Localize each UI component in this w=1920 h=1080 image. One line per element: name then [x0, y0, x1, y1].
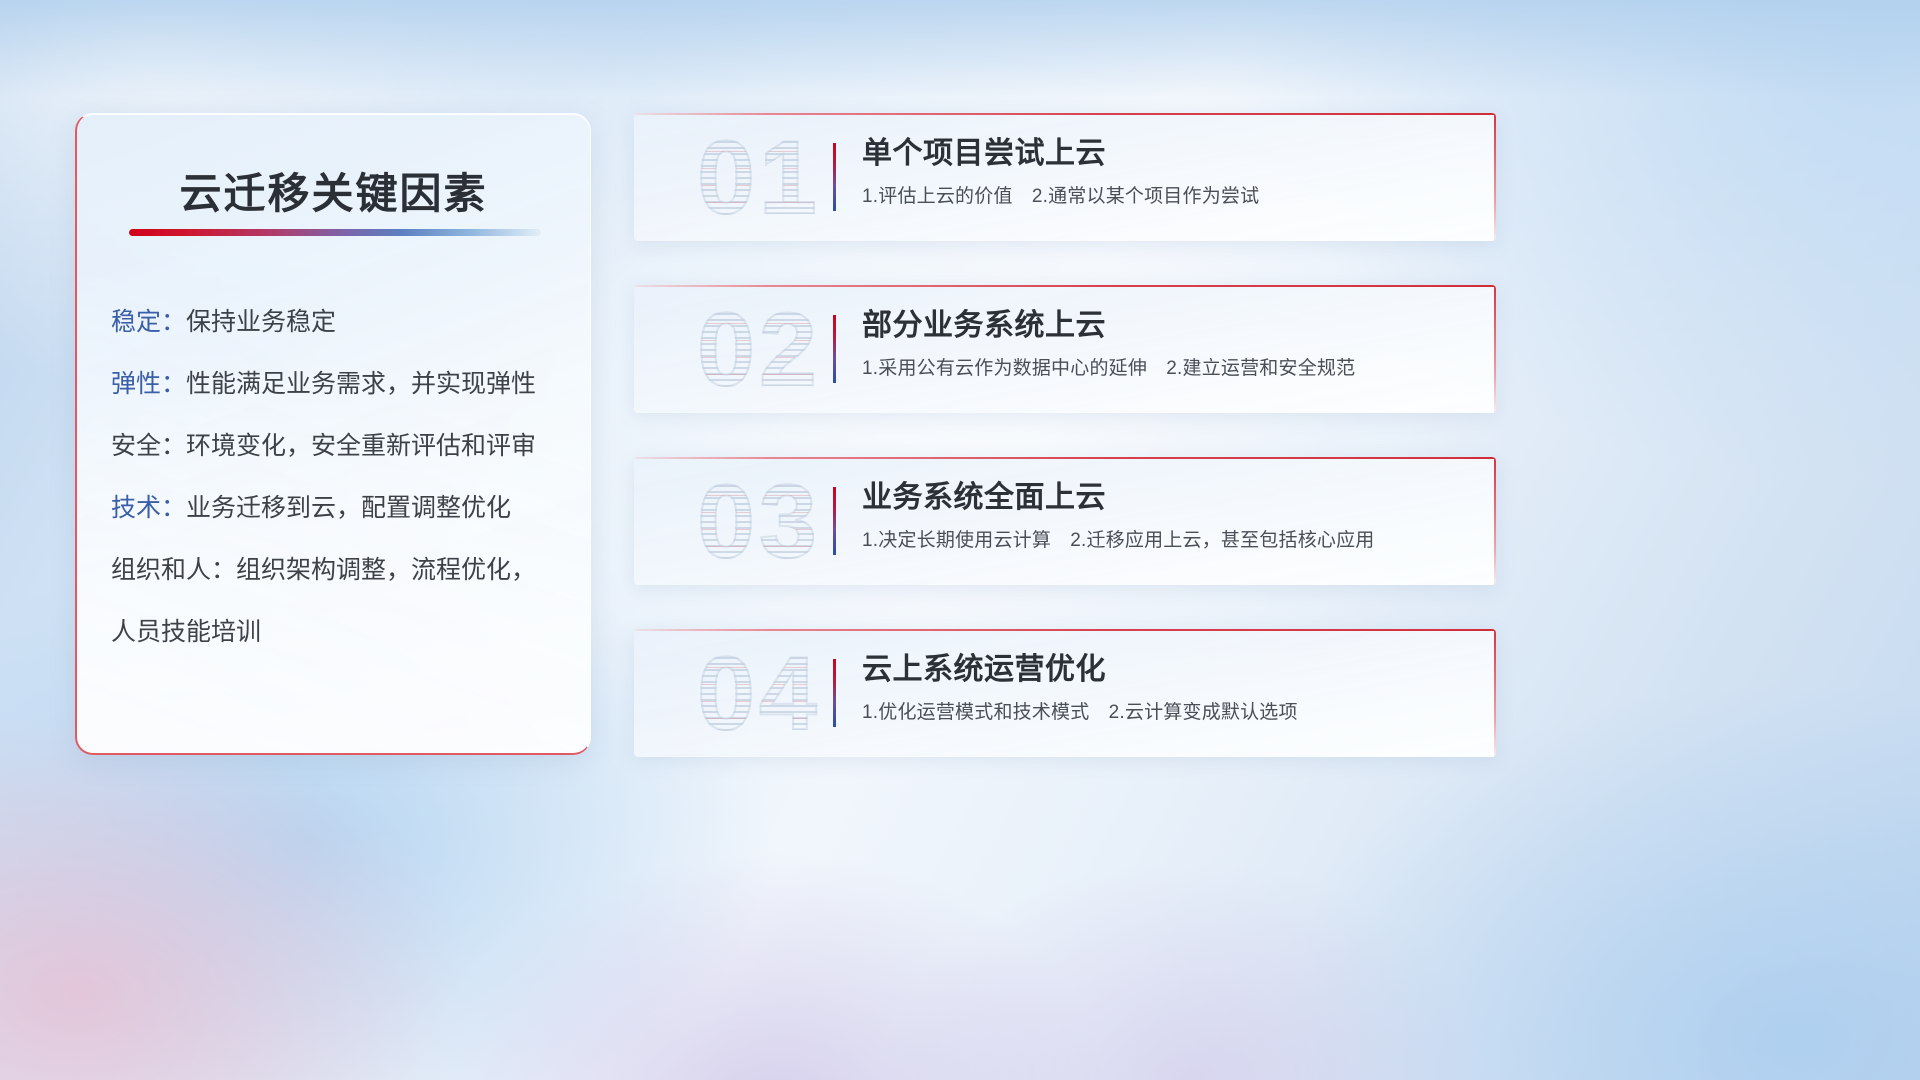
- slide-stage: 云迁移关键因素 稳定：保持业务稳定 弹性：性能满足业务需求，并实现弹性 安全：环…: [0, 0, 1920, 1080]
- card-top-accent-border: [634, 629, 1496, 631]
- stage-number: 04: [656, 633, 862, 755]
- list-item: 安全：环境变化，安全重新评估和评审: [111, 434, 566, 496]
- factor-label: 组织和人：: [111, 556, 236, 584]
- card-right-accent-border: [1494, 285, 1496, 413]
- stages-list: 01 01 单个项目尝试上云 1.评估上云的价值 2.通常以某个项目作为尝试 0…: [634, 113, 1496, 801]
- card-right-accent-border: [1494, 113, 1496, 241]
- list-item: 组织和人：组织架构调整，流程优化，: [111, 558, 566, 620]
- stage-card-01[interactable]: 01 01 单个项目尝试上云 1.评估上云的价值 2.通常以某个项目作为尝试: [634, 113, 1496, 241]
- factor-label: 弹性：: [111, 370, 186, 398]
- factor-text: 组织架构调整，流程优化，: [236, 556, 536, 584]
- stage-title: 业务系统全面上云: [862, 479, 1472, 517]
- factor-text: 保持业务稳定: [186, 308, 336, 336]
- key-factors-panel: 云迁移关键因素 稳定：保持业务稳定 弹性：性能满足业务需求，并实现弹性 安全：环…: [75, 113, 591, 755]
- card-right-accent-border: [1494, 629, 1496, 757]
- card-top-accent-border: [634, 113, 1496, 115]
- list-item: 弹性：性能满足业务需求，并实现弹性: [111, 372, 566, 434]
- card-top-accent-border: [634, 457, 1496, 459]
- card-top-accent-border: [634, 285, 1496, 287]
- list-item: 技术：业务迁移到云，配置调整优化: [111, 496, 566, 558]
- stage-subtitle: 1.评估上云的价值 2.通常以某个项目作为尝试: [862, 185, 1472, 210]
- stage-subtitle: 1.决定长期使用云计算 2.迁移应用上云，甚至包括核心应用: [862, 529, 1472, 554]
- stage-card-03[interactable]: 03 03 业务系统全面上云 1.决定长期使用云计算 2.迁移应用上云，甚至包括…: [634, 457, 1496, 585]
- stage-card-body: 部分业务系统上云 1.采用公有云作为数据中心的延伸 2.建立运营和安全规范: [862, 307, 1472, 381]
- title-underline-accent: [129, 229, 541, 236]
- stage-card-body: 单个项目尝试上云 1.评估上云的价值 2.通常以某个项目作为尝试: [862, 135, 1472, 209]
- stage-title: 部分业务系统上云: [862, 307, 1472, 345]
- card-right-accent-border: [1494, 457, 1496, 585]
- stage-subtitle: 1.采用公有云作为数据中心的延伸 2.建立运营和安全规范: [862, 357, 1472, 382]
- stage-number: 01: [656, 117, 862, 239]
- stage-card-02[interactable]: 02 02 部分业务系统上云 1.采用公有云作为数据中心的延伸 2.建立运营和安…: [634, 285, 1496, 413]
- stage-subtitle: 1.优化运营模式和技术模式 2.云计算变成默认选项: [862, 701, 1472, 726]
- factor-text: 环境变化，安全重新评估和评审: [186, 432, 536, 460]
- list-item-continuation: 人员技能培训: [111, 620, 566, 682]
- stage-card-body: 业务系统全面上云 1.决定长期使用云计算 2.迁移应用上云，甚至包括核心应用: [862, 479, 1472, 553]
- factor-text: 性能满足业务需求，并实现弹性: [186, 370, 536, 398]
- card-accent-bar: [833, 659, 836, 727]
- key-factors-list: 稳定：保持业务稳定 弹性：性能满足业务需求，并实现弹性 安全：环境变化，安全重新…: [111, 310, 566, 682]
- factor-label: 安全：: [111, 432, 186, 460]
- stage-title: 单个项目尝试上云: [862, 135, 1472, 173]
- card-accent-bar: [833, 143, 836, 211]
- card-accent-bar: [833, 315, 836, 383]
- factor-text: 业务迁移到云，配置调整优化: [186, 494, 511, 522]
- stage-title: 云上系统运营优化: [862, 651, 1472, 689]
- factor-text: 人员技能培训: [111, 618, 261, 646]
- card-accent-bar: [833, 487, 836, 555]
- list-item: 稳定：保持业务稳定: [111, 310, 566, 372]
- stage-number: 02: [656, 289, 862, 411]
- page-title: 云迁移关键因素: [77, 160, 590, 221]
- factor-label: 稳定：: [111, 308, 186, 336]
- factor-label: 技术：: [111, 494, 186, 522]
- stage-card-04[interactable]: 04 04 云上系统运营优化 1.优化运营模式和技术模式 2.云计算变成默认选项: [634, 629, 1496, 757]
- stage-card-body: 云上系统运营优化 1.优化运营模式和技术模式 2.云计算变成默认选项: [862, 651, 1472, 725]
- stage-number: 03: [656, 461, 862, 583]
